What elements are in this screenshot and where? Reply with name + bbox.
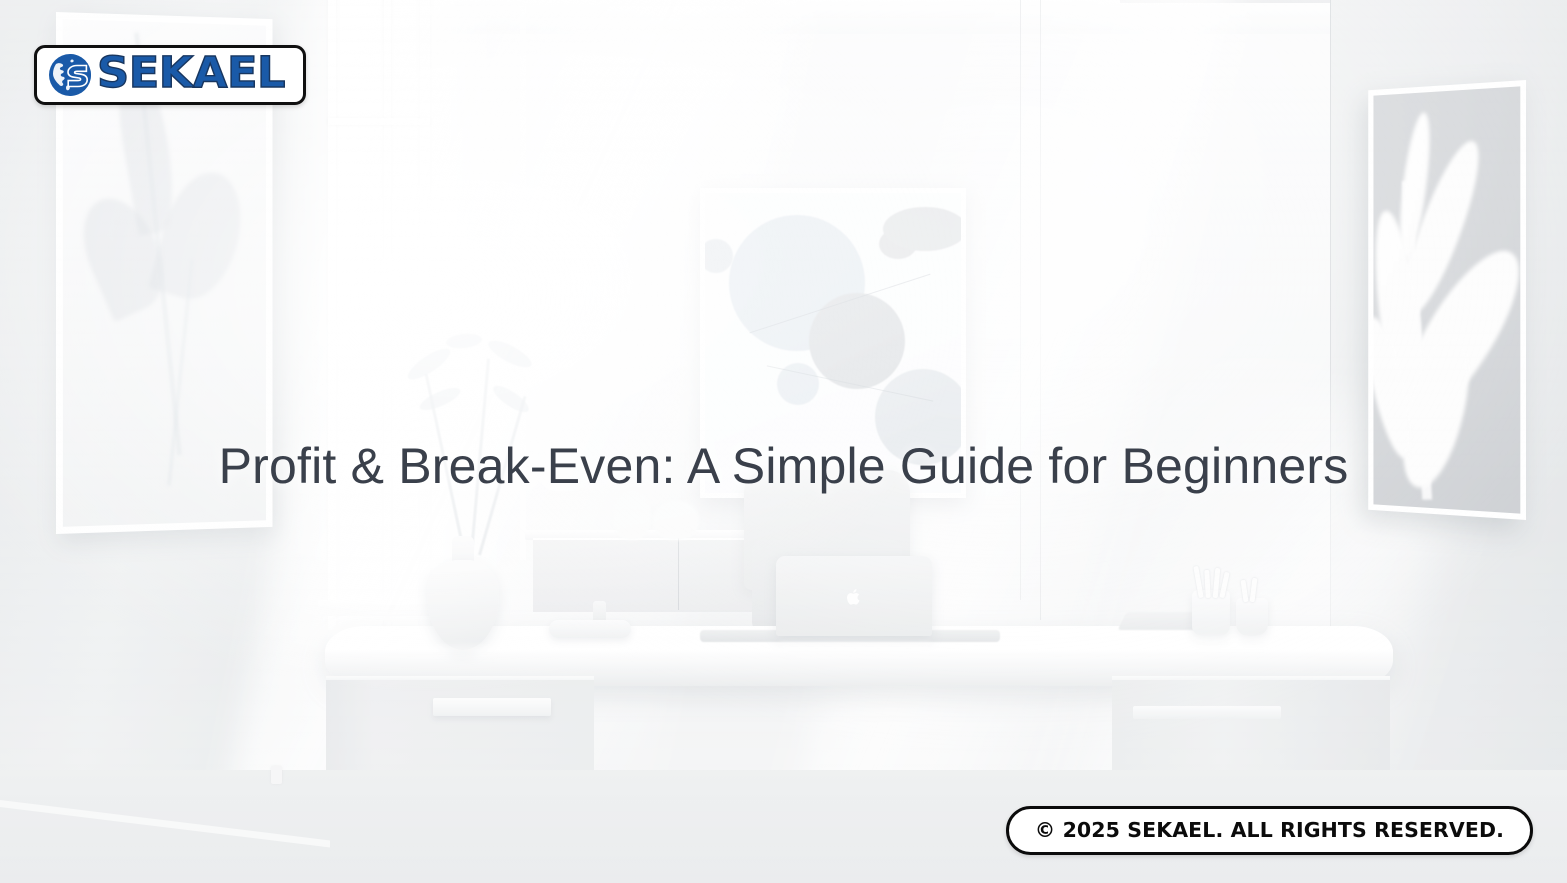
books-stack bbox=[433, 698, 551, 716]
decor-vase bbox=[653, 500, 699, 540]
window-frame bbox=[328, 0, 336, 630]
window-mullion bbox=[384, 0, 391, 630]
books-stack bbox=[1133, 706, 1281, 719]
window bbox=[333, 0, 429, 650]
apple-logo-icon bbox=[847, 588, 862, 606]
desk-reflection bbox=[1190, 636, 1270, 650]
ceiling bbox=[330, 0, 1330, 34]
desk-reflection bbox=[430, 646, 500, 660]
desk-tray bbox=[549, 620, 631, 638]
decor-vase bbox=[613, 490, 651, 540]
sekael-logo-badge[interactable]: SEKAEL bbox=[34, 45, 306, 105]
page-title: Profit & Break-Even: A Simple Guide for … bbox=[0, 437, 1567, 496]
ceiling-seam bbox=[1120, 0, 1330, 3]
wall-panel-seam bbox=[1040, 0, 1041, 620]
copyright-badge: © 2025 SEKAEL. ALL RIGHTS RESERVED. bbox=[1006, 806, 1533, 855]
pen-holder bbox=[1236, 598, 1268, 636]
wall-panel-seam bbox=[1020, 0, 1021, 600]
wall-outlet bbox=[271, 766, 282, 784]
window-frame bbox=[420, 0, 430, 630]
credenza-seam bbox=[678, 538, 679, 610]
globe-s-icon bbox=[47, 52, 93, 98]
logo-wordmark: SEKAEL bbox=[97, 52, 285, 98]
window-mullion bbox=[328, 118, 430, 125]
desk-reflection bbox=[780, 642, 930, 660]
title-card-canvas: SEKAEL Profit & Break-Even: A Simple Gui… bbox=[0, 0, 1567, 883]
window-sill bbox=[318, 600, 438, 616]
